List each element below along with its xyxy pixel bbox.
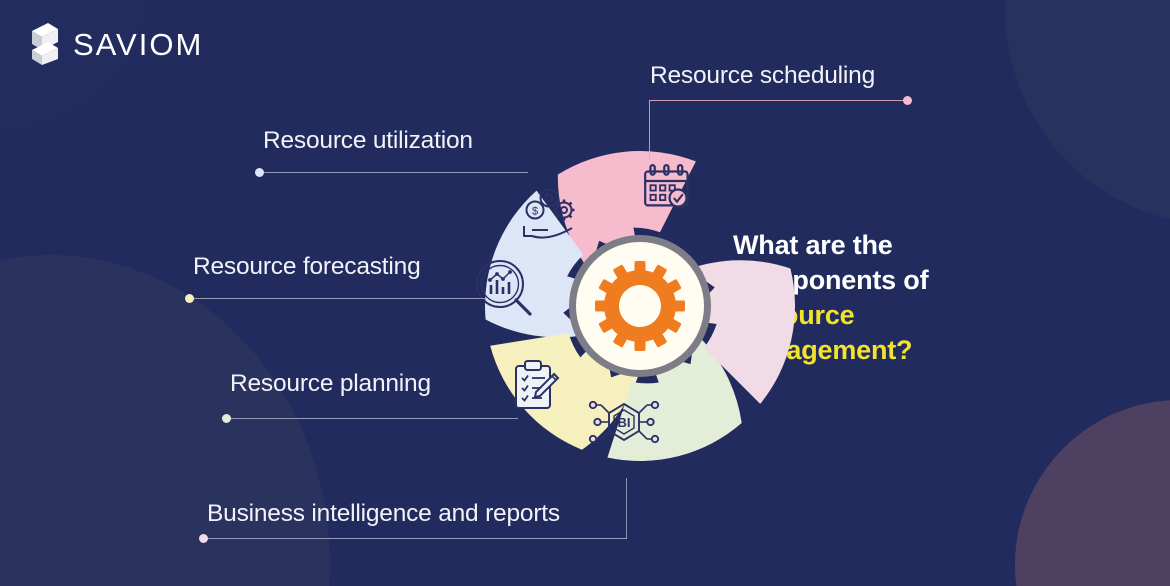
svg-text:$: $ — [532, 206, 538, 218]
label-text: Resource utilization — [263, 127, 473, 155]
svg-text:BI: BI — [618, 415, 631, 430]
leader-line-vertical — [626, 478, 627, 539]
label-text: Resource scheduling — [650, 62, 875, 90]
background-blob-top-right — [1005, 0, 1170, 225]
leader-line — [263, 172, 528, 173]
background-blob-bottom-left — [0, 255, 330, 586]
leader-dot — [255, 168, 264, 177]
background-blob-bottom-right — [1015, 400, 1170, 586]
leader-line-vertical — [649, 100, 650, 160]
leader-line — [207, 538, 627, 539]
label-text: Business intelligence and reports — [207, 500, 560, 528]
leader-line — [230, 418, 518, 419]
brand-logo: SAVIOM — [28, 22, 203, 66]
center-hub — [569, 235, 711, 377]
leader-dot — [222, 414, 231, 423]
saviom-s-logo-icon — [28, 22, 62, 66]
brand-name: SAVIOM — [73, 29, 203, 60]
label-text: Resource forecasting — [193, 253, 421, 281]
leader-line — [193, 298, 488, 299]
leader-dot — [903, 96, 912, 105]
leader-dot — [199, 534, 208, 543]
leader-dot — [185, 294, 194, 303]
leader-line — [649, 100, 907, 101]
label-text: Resource planning — [230, 370, 431, 398]
infographic-canvas: SAVIOM What are the Components of Resour… — [0, 0, 1170, 586]
